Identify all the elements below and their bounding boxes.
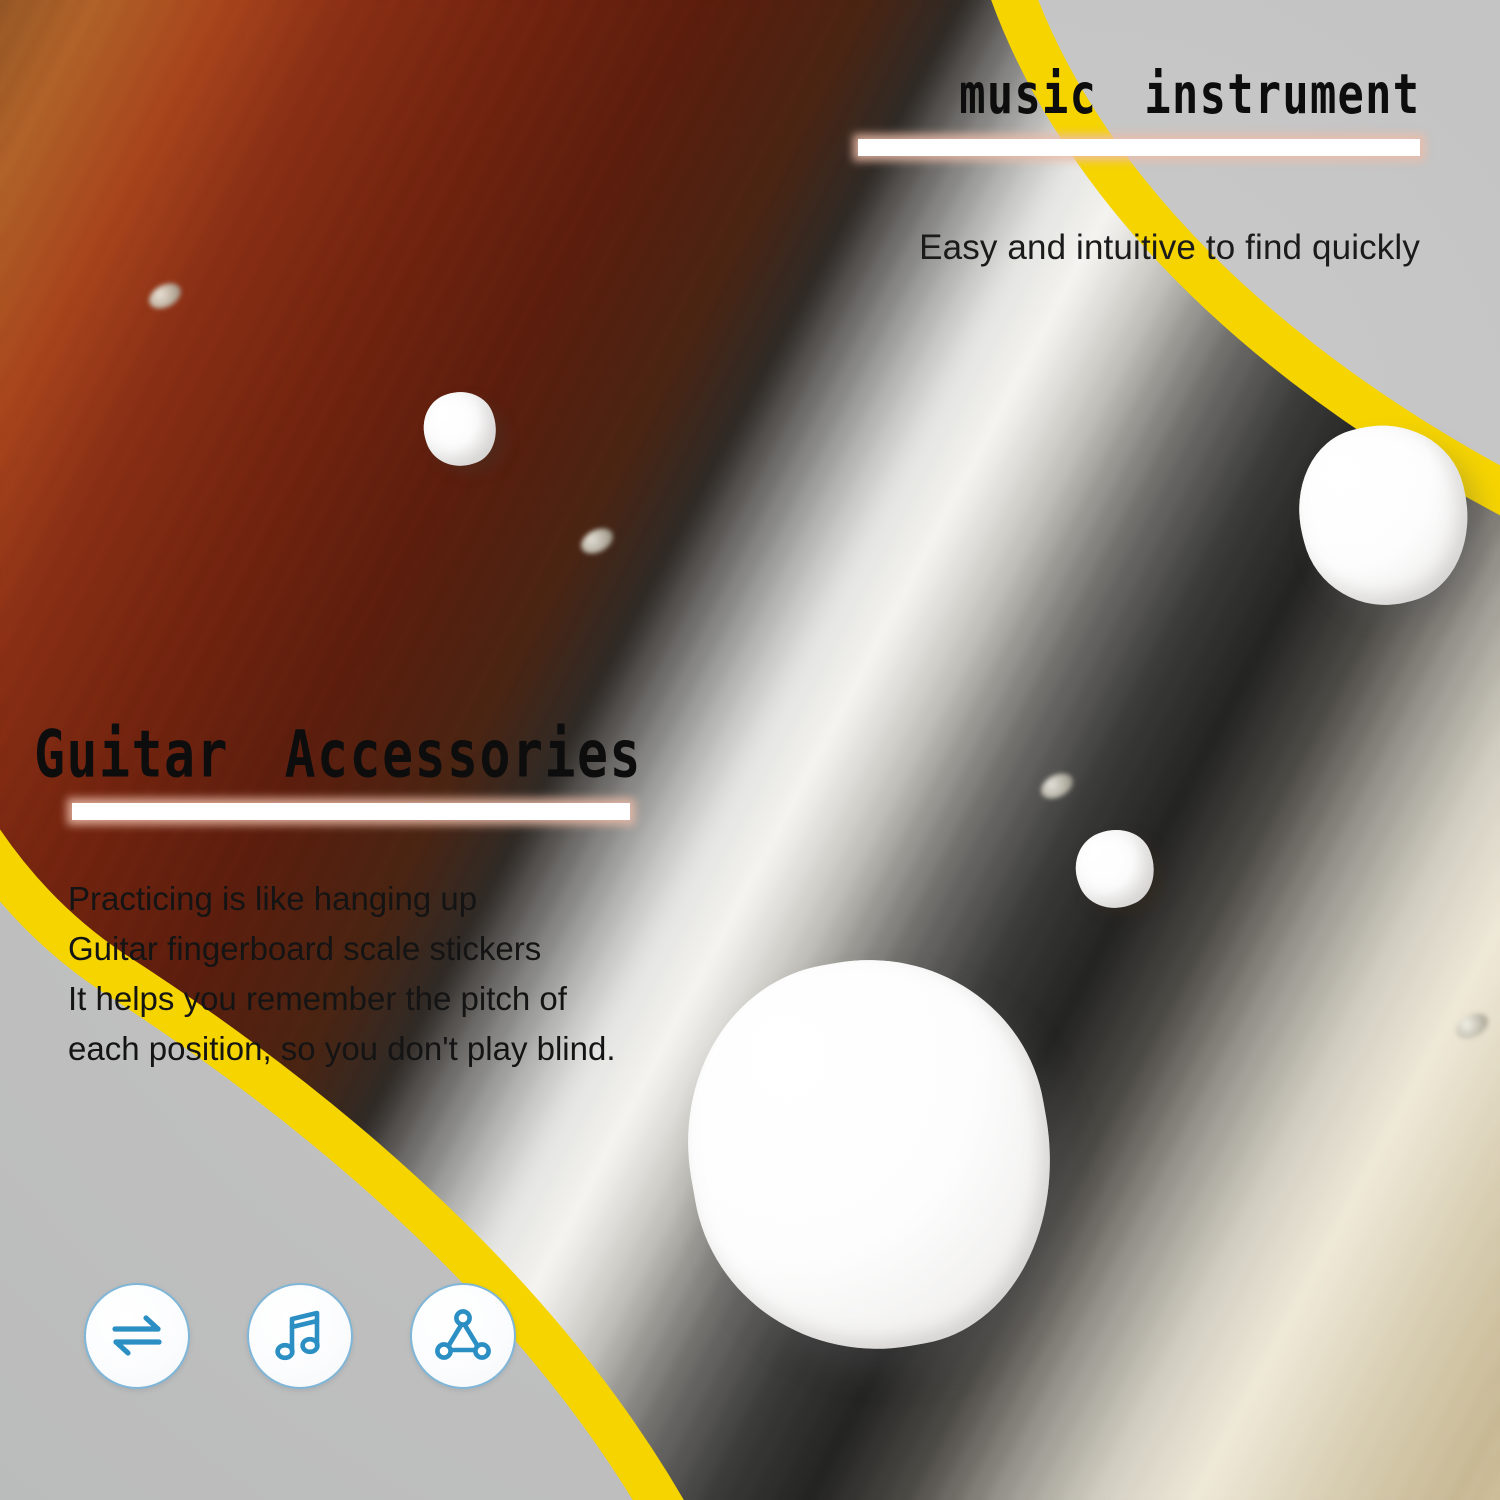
bottom-text-block: Guitar Accessories Practicing is like ha… bbox=[34, 718, 714, 1075]
body-line: It helps you remember the pitch of bbox=[68, 974, 714, 1024]
bottom-heading-underline bbox=[72, 803, 630, 820]
feature-icon-exchange[interactable] bbox=[84, 1283, 190, 1389]
top-heading-underline bbox=[858, 139, 1420, 156]
music-note-icon bbox=[271, 1307, 329, 1365]
triangle-network-icon bbox=[434, 1308, 492, 1364]
exchange-arrows-icon bbox=[106, 1305, 168, 1367]
body-line: Practicing is like hanging up bbox=[68, 874, 714, 924]
product-poster: music instrument Easy and intuitive to f… bbox=[0, 0, 1500, 1500]
bottom-heading: Guitar Accessories bbox=[34, 718, 694, 792]
body-line: each position, so you don't play blind. bbox=[68, 1024, 714, 1074]
top-subtitle: Easy and intuitive to find quickly bbox=[840, 228, 1420, 268]
feature-icon-music-note[interactable] bbox=[247, 1283, 353, 1389]
body-line: Guitar fingerboard scale stickers bbox=[68, 924, 714, 974]
feature-icon-row bbox=[84, 1283, 516, 1389]
top-text-block: music instrument Easy and intuitive to f… bbox=[840, 62, 1420, 268]
feature-icon-triangle-network[interactable] bbox=[410, 1283, 516, 1389]
top-heading: music instrument bbox=[959, 62, 1420, 127]
bottom-body-copy: Practicing is like hanging up Guitar fin… bbox=[68, 874, 714, 1075]
